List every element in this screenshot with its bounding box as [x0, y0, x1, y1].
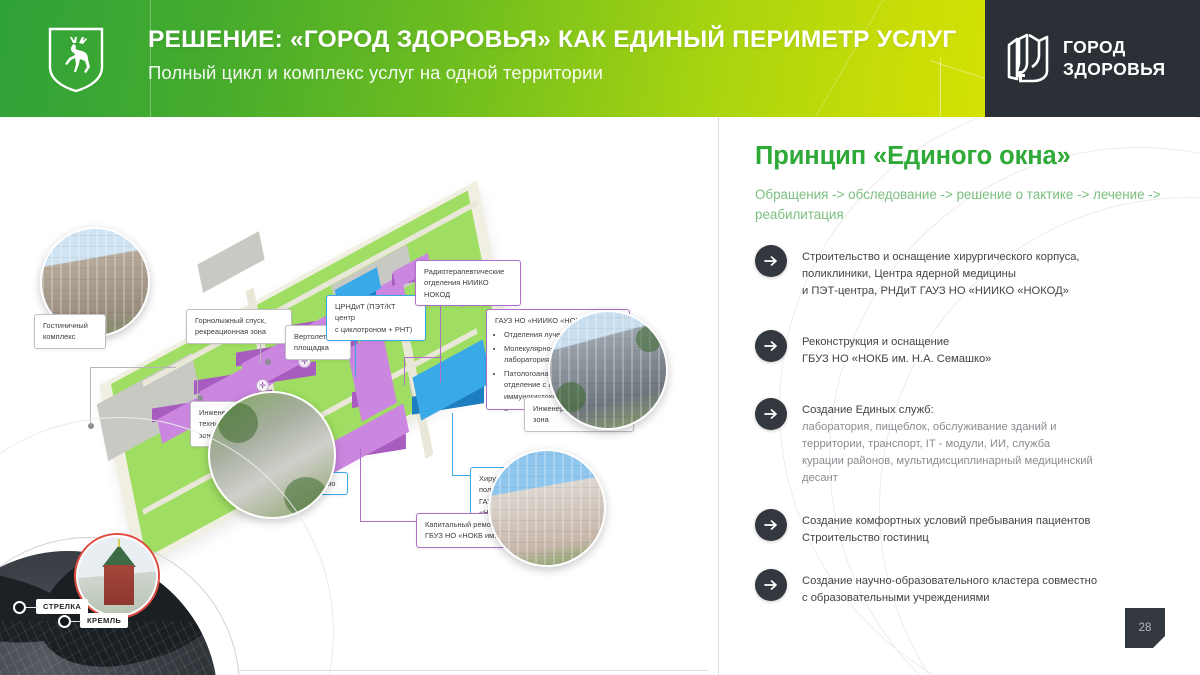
bullet-construction[interactable]: Строительство и оснащение хирургического… [755, 245, 1185, 300]
pin-label-kremlin: КРЕМЛЬ [80, 613, 128, 628]
slide-root: РЕШЕНИЕ: «ГОРОД ЗДОРОВЬЯ» КАК ЕДИНЫЙ ПЕР… [0, 0, 1200, 675]
callout-radiotherapy[interactable]: Радиотерапевтические отделения НИИКО НОК… [415, 260, 521, 306]
principles-flow: Обращения -> обследование -> решение о т… [755, 185, 1175, 225]
callout-ski-slope[interactable]: Горнолыжный спуск, рекреационная зона [186, 309, 292, 344]
leader-capital-v [360, 449, 361, 521]
leader-engineering-left [197, 377, 198, 399]
header-title-group: РЕШЕНИЕ: «ГОРОД ЗДОРОВЬЯ» КАК ЕДИНЫЙ ПЕР… [148, 26, 968, 84]
leader-surgical-v [452, 413, 453, 475]
bullet-4-line-2: Строительство гостиниц [802, 530, 1090, 547]
callout-hotel-text: Гостиничный комплекс [43, 320, 97, 343]
principles-bullet-list: Строительство и оснащение хирургического… [755, 245, 1185, 607]
kremlin-photo-circle[interactable] [76, 535, 158, 617]
bullet-education-cluster-text: Создание научно-образовательного кластер… [802, 569, 1097, 607]
logo-line-2: ЗДОРОВЬЯ [1063, 59, 1165, 81]
bullet-2-line-2: ГБУЗ НО «НОКБ им. Н.А. Семашко» [802, 351, 991, 368]
utility-plot-top [197, 231, 264, 293]
bullet-comfort-text: Создание комфортных условий пребывания п… [802, 509, 1090, 547]
bullet-5-line-2: с образовательными учреждениями [802, 590, 1097, 607]
leader-radiotherapy-drop [404, 357, 405, 385]
bullet-5-line-1: Создание научно-образовательного кластер… [802, 573, 1097, 590]
bullet-construction-text: Строительство и оснащение хирургического… [802, 245, 1080, 300]
brand-logo-text: ГОРОД ЗДОРОВЬЯ [1063, 37, 1165, 80]
photo-clinic-building[interactable] [488, 449, 606, 567]
legend-separator [238, 670, 708, 671]
leader-ski-h [90, 367, 176, 368]
page-title: РЕШЕНИЕ: «ГОРОД ЗДОРОВЬЯ» КАК ЕДИНЫЙ ПЕР… [148, 26, 968, 54]
bullet-comfort[interactable]: Создание комфортных условий пребывания п… [755, 509, 1185, 547]
roof-mark-2: ✛ [256, 379, 269, 392]
leader-radiotherapy-h [404, 357, 442, 358]
header-accent-line [940, 58, 941, 117]
callout-hotel[interactable]: Гостиничный комплекс [34, 314, 106, 349]
deer-shield-icon [46, 27, 106, 93]
header-green-band: РЕШЕНИЕ: «ГОРОД ЗДОРОВЬЯ» КАК ЕДИНЫЙ ПЕР… [0, 0, 985, 117]
callout-radiotherapy-text: Радиотерапевтические отделения НИИКО НОК… [424, 266, 512, 300]
health-city-logo-icon [1005, 33, 1051, 85]
leader-ski [90, 367, 91, 425]
principles-panel: Принцип «Единого окна» Обращения -> обсл… [719, 117, 1200, 675]
helipad-marker [265, 359, 271, 365]
bullet-1-line-2: поликлиники, Центра ядерной медицины [802, 266, 1080, 283]
logo-line-1: ГОРОД [1063, 37, 1165, 59]
bullet-1-line-1: Строительство и оснащение хирургического… [802, 249, 1080, 266]
bullet-3-line-1: Создание Единых служб: [802, 402, 1093, 419]
bullet-3-sub-2: территории, транспорт, IT - модули, ИИ, … [802, 436, 1093, 453]
brand-logo-block: ГОРОД ЗДОРОВЬЯ [985, 0, 1200, 117]
bullet-3-sub-3: курации районов, мультидисциплинарный ме… [802, 453, 1093, 470]
page-number-badge: 28 [1125, 608, 1165, 648]
leader-capital-h [360, 521, 420, 522]
principles-title: Принцип «Единого окна» [755, 142, 1071, 171]
arrow-right-circle-icon [755, 509, 787, 541]
bullet-education-cluster[interactable]: Создание научно-образовательного кластер… [755, 569, 1185, 607]
arrow-right-circle-icon [755, 398, 787, 430]
header-diagonal-line [930, 60, 985, 83]
photo-hospital-aerial[interactable] [548, 310, 668, 430]
pin-strelka[interactable] [13, 601, 26, 614]
bullet-reconstruction-text: Реконструкция и оснащение ГБУЗ НО «НОКБ … [802, 330, 991, 368]
bullet-4-line-1: Создание комфортных условий пребывания п… [802, 513, 1090, 530]
callout-crndit-text: ЦРНДиТ (ПЭТ/КТ центр с циклотроном + РНТ… [335, 301, 417, 335]
callout-ski-line1: Горнолыжный спуск, рекреационная зона [195, 315, 283, 338]
page-subtitle: Полный цикл и комплекс услуг на одной те… [148, 62, 968, 84]
bullet-1-line-3: и ПЭТ-центра, РНДиТ ГАУЗ НО «НИИКО «НОКО… [802, 283, 1080, 300]
pin-label-strelka: СТРЕЛКА [36, 599, 88, 614]
arrow-right-circle-icon [755, 245, 787, 277]
arrow-right-circle-icon [755, 569, 787, 601]
arrow-right-circle-icon [755, 330, 787, 362]
bullet-3-sub-4: десант [802, 470, 1093, 487]
bullet-3-sub-1: лаборатория, пищеблок, обслуживание здан… [802, 419, 1093, 436]
leader-radiotherapy-v [440, 295, 441, 383]
bullet-unified-services[interactable]: Создание Единых служб: лаборатория, пище… [755, 398, 1185, 487]
kremlin-tower-icon [102, 545, 136, 567]
bullet-2-line-1: Реконструкция и оснащение [802, 334, 991, 351]
slide-header: РЕШЕНИЕ: «ГОРОД ЗДОРОВЬЯ» КАК ЕДИНЫЙ ПЕР… [0, 0, 1200, 117]
site-plan-panel: ✛ ✛ ✛ ✛ ✛ Горнолыжный спуск, рекреационн… [0, 117, 718, 675]
bullet-reconstruction[interactable]: Реконструкция и оснащение ГБУЗ НО «НОКБ … [755, 330, 1185, 368]
bullet-unified-services-text: Создание Единых служб: лаборатория, пище… [802, 398, 1093, 487]
callout-crndit[interactable]: ЦРНДиТ (ПЭТ/КТ центр с циклотроном + РНТ… [326, 295, 426, 341]
